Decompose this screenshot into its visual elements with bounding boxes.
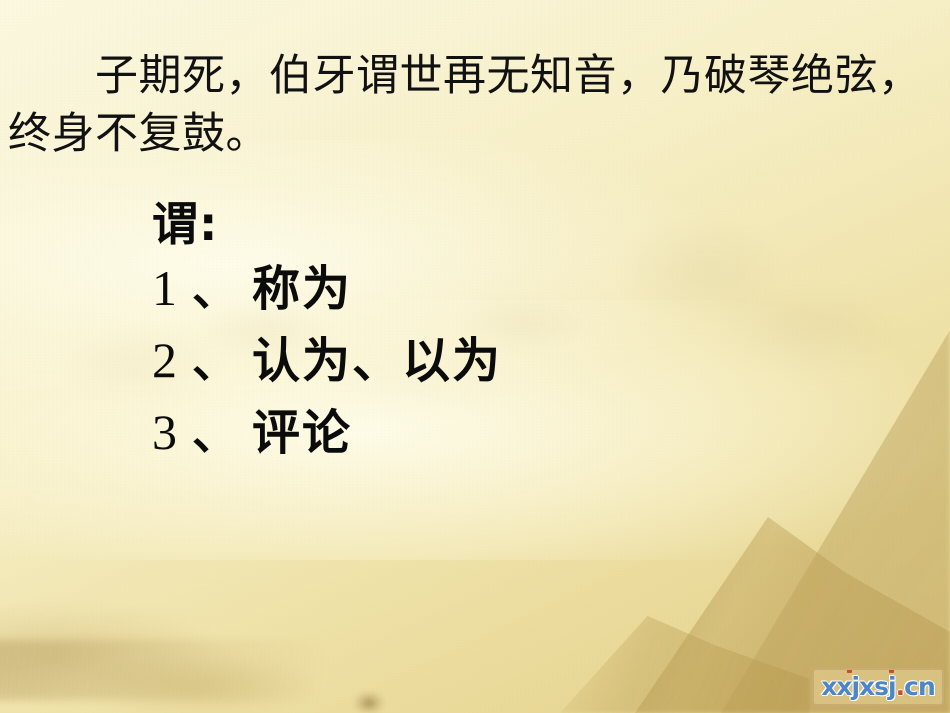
land-mass-left-edge-decor [0, 640, 320, 700]
note-item-3: 3 、 评论 [152, 396, 502, 468]
slide-canvas: 子期死，伯牙谓世再无知音，乃破琴绝弦，终身不复鼓。 谓: 1 、 称为 2 、 … [0, 0, 950, 713]
watermark-tld: cn [904, 672, 935, 701]
pagoda-speck-decor [352, 688, 386, 713]
note-item-1-text: 称为 [252, 253, 352, 325]
note-item-1: 1 、 称为 [152, 252, 502, 324]
mountain-ridge-main-decor [430, 330, 950, 713]
watermark-dot: . [896, 672, 905, 701]
mountain-ridge-crest-decor [430, 330, 950, 713]
note-item-2-number: 2 [152, 324, 184, 396]
note-item-2-separator: 、 [184, 325, 252, 397]
watermark-domain-name: xxjxsj [821, 672, 895, 701]
watermark-tick-left-icon [847, 668, 852, 673]
note-item-3-number: 3 [152, 396, 184, 468]
note-item-1-separator: 、 [184, 253, 252, 325]
distant-architecture-haze-decor [600, 190, 940, 420]
land-mass-left-decor [0, 560, 400, 713]
note-item-1-number: 1 [152, 252, 184, 324]
note-item-2: 2 、 认为、以为 [152, 324, 502, 396]
site-watermark-badge: xxjxsj.cn [812, 668, 944, 706]
foreground-hill-decor [560, 600, 810, 713]
note-block: 谓: 1 、 称为 2 、 认为、以为 3 、 评论 [152, 196, 502, 468]
note-item-2-text: 认为、以为 [252, 325, 502, 397]
site-watermark-text: xxjxsj.cn [821, 674, 935, 700]
note-heading: 谓: [152, 196, 502, 252]
note-item-3-separator: 、 [184, 397, 252, 469]
body-paragraph: 子期死，伯牙谓世再无知音，乃破琴绝弦，终身不复鼓。 [8, 48, 946, 164]
note-item-3-text: 评论 [252, 397, 352, 469]
watermark-tick-right-icon [889, 668, 894, 673]
